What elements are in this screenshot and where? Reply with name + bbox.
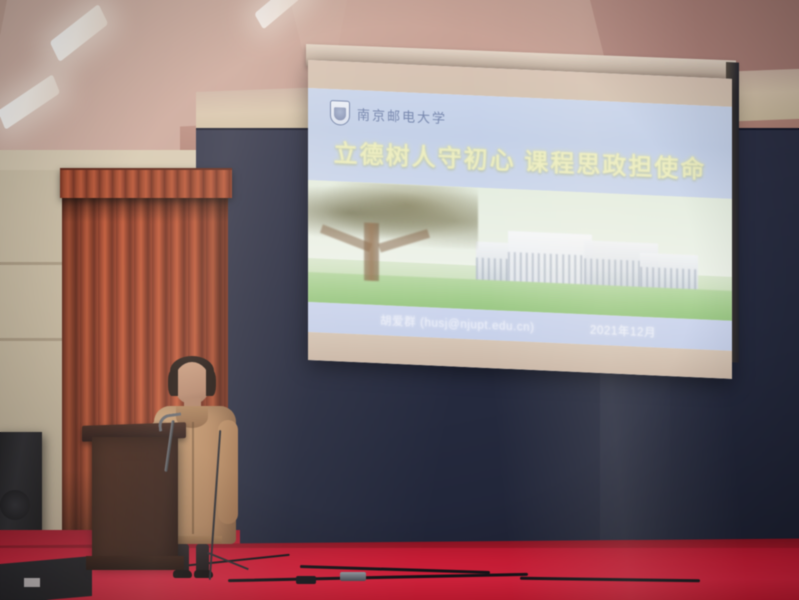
university-crest-icon xyxy=(330,100,350,126)
university-name: 南京邮电大学 xyxy=(357,104,447,127)
presentation-slide: 南京邮电大学 立德树人守初心 课程思政担使命 胡爱群 (husj@njupt. xyxy=(308,88,732,351)
campus-building xyxy=(640,253,698,292)
curtain-shadow xyxy=(62,196,228,222)
floor-equipment xyxy=(0,556,92,600)
presenter-hair-side xyxy=(206,370,216,396)
campus-tree xyxy=(308,180,478,292)
presenter-coat-seam xyxy=(192,422,194,534)
university-logo: 南京邮电大学 xyxy=(330,100,447,130)
photograph-scene: 南京邮电大学 立德树人守初心 课程思政担使命 胡爱群 (husj@njupt. xyxy=(0,0,799,600)
pa-speaker-cabinet xyxy=(0,432,42,544)
presenter-shoe xyxy=(173,570,192,578)
cable-connector xyxy=(340,572,366,581)
slide-author: 胡爱群 (husj@njupt.edu.cn) xyxy=(380,312,535,335)
slide-campus-photo xyxy=(308,180,732,321)
slide-date: 2021年12月 xyxy=(590,322,656,341)
projection-screen: 南京邮电大学 立德树人守初心 课程思政担使命 胡爱群 (husj@njupt. xyxy=(308,60,732,379)
podium: 南京邮电大学 xyxy=(92,437,178,565)
curtain-valance xyxy=(60,168,232,198)
cable-connector xyxy=(296,576,316,584)
tree-trunk xyxy=(364,222,379,281)
floor-equipment-tag xyxy=(24,578,40,587)
campus-building xyxy=(508,231,592,287)
presenter-arm-right xyxy=(218,420,238,524)
presenter-hair-side xyxy=(168,370,178,396)
podium-base xyxy=(86,556,184,570)
